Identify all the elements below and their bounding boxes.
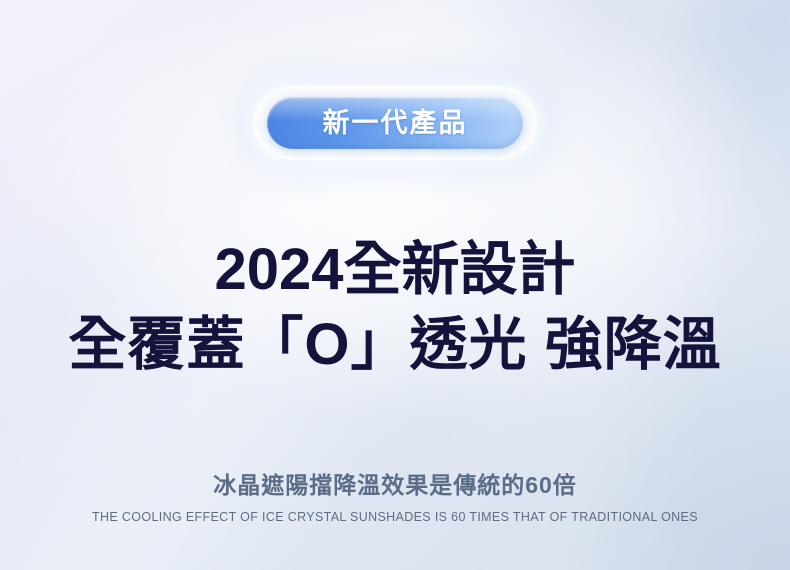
new-generation-badge[interactable]: 新一代產品 [267,97,523,149]
headline-line-2: 全覆蓋「O」透光 強降溫 [0,313,790,378]
subtitle-english: THE COOLING EFFECT OF ICE CRYSTAL SUNSHA… [0,510,790,524]
headline-line-1: 2024全新設計 [0,238,790,303]
page-title: 2024全新設計 全覆蓋「O」透光 強降溫 [0,238,790,378]
badge-label: 新一代產品 [323,110,468,137]
banner-content: 新一代產品 2024全新設計 全覆蓋「O」透光 強降溫 冰晶遮陽擋降溫效果是傳統… [0,0,790,570]
new-generation-badge-glow: 新一代產品 [255,88,535,158]
hero-banner: 新一代產品 2024全新設計 全覆蓋「O」透光 強降溫 冰晶遮陽擋降溫效果是傳統… [0,0,790,570]
subtitle-chinese: 冰晶遮陽擋降溫效果是傳統的60倍 [0,466,790,500]
